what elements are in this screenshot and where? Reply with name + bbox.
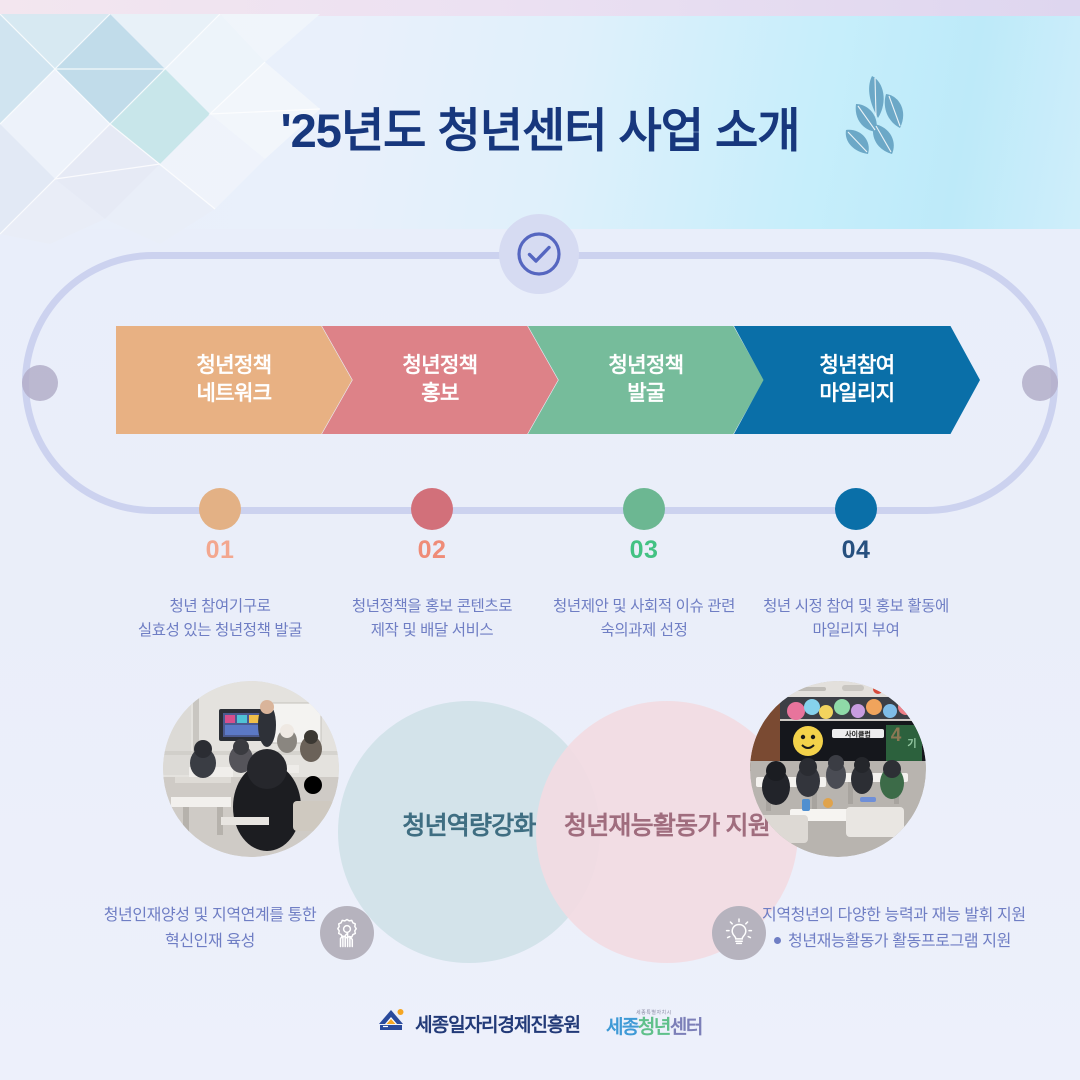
logo-sejong-youth-center: 세종특별자치시 세종청년센터 — [606, 1011, 702, 1037]
step-number-02: 02 — [327, 536, 537, 565]
lightbulb-icon — [712, 906, 766, 960]
step-item-04: 04 청년 시정 참여 및 홍보 활동에 마일리지 부여 — [751, 488, 961, 643]
step-dot-03 — [623, 488, 665, 530]
step-number-04: 04 — [751, 536, 961, 565]
logo-youth-part2: 청년 — [638, 1017, 670, 1038]
step-desc-02-line2: 제작 및 배달 서비스 — [327, 619, 537, 643]
track-dot-left — [22, 365, 58, 401]
step-desc-04-line1: 청년 시정 참여 및 홍보 활동에 — [751, 595, 961, 619]
step-desc-03-line1: 청년제안 및 사회적 이슈 관련 — [539, 595, 749, 619]
svg-text:사이클럽: 사이클럽 — [845, 729, 871, 738]
chevron-step-3-line2: 발굴 — [609, 380, 684, 408]
program-left-photo — [163, 681, 339, 857]
chevron-step-4-line1: 청년참여 — [820, 352, 895, 380]
step-dot-04 — [835, 488, 877, 530]
step-description-01: 청년 참여기구로 실효성 있는 청년정책 발굴 — [115, 595, 325, 643]
infographic-poster: '25년도 청년센터 사업 소개 청년정책 네트워크 청년정책 홍보 청년정책 … — [0, 0, 1080, 1080]
step-desc-02-line1: 청년정책을 홍보 콘텐츠로 — [327, 595, 537, 619]
step-item-02: 02 청년정책을 홍보 콘텐츠로 제작 및 배달 서비스 — [327, 488, 537, 643]
logo-sejong-job-economy: 세종일자리경제진흥원 — [378, 1008, 580, 1039]
program-right-caption-bullet: 청년재능활동가 활동프로그램 지원 — [788, 929, 1011, 955]
chevron-step-3[interactable]: 청년정책 발굴 — [528, 326, 764, 434]
footer-logos: 세종일자리경제진흥원 세종특별자치시 세종청년센터 — [0, 1008, 1080, 1039]
chevron-step-2[interactable]: 청년정책 홍보 — [322, 326, 558, 434]
step-desc-03-line2: 숙의과제 선정 — [539, 619, 749, 643]
chevron-step-4-line2: 마일리지 — [820, 380, 895, 408]
chevron-step-4[interactable]: 청년참여 마일리지 — [734, 326, 980, 434]
track-dot-right — [1022, 365, 1058, 401]
step-item-03: 03 청년제안 및 사회적 이슈 관련 숙의과제 선정 — [539, 488, 749, 643]
chevron-step-1-line2: 네트워크 — [197, 380, 272, 408]
step-dot-02 — [411, 488, 453, 530]
program-right-caption: 지역청년의 다양한 능력과 재능 발휘 지원 청년재능활동가 활동프로그램 지원 — [762, 903, 1062, 954]
program-left-caption: 청년인재양성 및 지역연계를 통한 혁신인재 육성 — [60, 903, 360, 954]
chevron-step-2-line2: 홍보 — [403, 380, 478, 408]
step-number-01: 01 — [115, 536, 325, 565]
program-left-caption-line1: 청년인재양성 및 지역연계를 통한 — [60, 903, 360, 929]
step-item-01: 01 청년 참여기구로 실효성 있는 청년정책 발굴 — [115, 488, 325, 643]
step-desc-01-line2: 실효성 있는 청년정책 발굴 — [115, 619, 325, 643]
process-chevron-band: 청년정책 네트워크 청년정책 홍보 청년정책 발굴 청년참여 마일리지 — [116, 326, 980, 434]
chevron-step-1-line1: 청년정책 — [197, 352, 272, 380]
step-desc-04-line2: 마일리지 부여 — [751, 619, 961, 643]
program-right-caption-line1: 지역청년의 다양한 능력과 재능 발휘 지원 — [762, 903, 1062, 929]
program-left-label: 청년역량강화 — [402, 806, 535, 842]
check-circle-icon — [499, 214, 579, 294]
page-title: '25년도 청년센터 사업 소개 — [0, 92, 1080, 161]
chevron-step-1[interactable]: 청년정책 네트워크 — [116, 326, 352, 434]
chevron-step-3-line1: 청년정책 — [609, 352, 684, 380]
logo-youth-part3: 센터 — [670, 1017, 702, 1038]
step-description-04: 청년 시정 참여 및 홍보 활동에 마일리지 부여 — [751, 595, 961, 643]
step-description-03: 청년제안 및 사회적 이슈 관련 숙의과제 선정 — [539, 595, 749, 643]
logo-youth-small-text: 세종특별자치시 — [636, 1011, 672, 1016]
step-dot-01 — [199, 488, 241, 530]
program-right-label: 청년재능활동가 지원 — [564, 806, 770, 842]
step-description-02: 청년정책을 홍보 콘텐츠로 제작 및 배달 서비스 — [327, 595, 537, 643]
program-right-caption-bullet-row: 청년재능활동가 활동프로그램 지원 — [762, 929, 1062, 955]
logo-sejong-text: 세종일자리경제진흥원 — [415, 1010, 580, 1037]
step-number-03: 03 — [539, 536, 749, 565]
step-desc-01-line1: 청년 참여기구로 — [115, 595, 325, 619]
program-right-photo: 사이클럽 4 기 — [750, 681, 926, 857]
logo-youth-main-text: 세종청년센터 — [606, 1018, 702, 1037]
logo-youth-part1: 세종 — [606, 1017, 638, 1038]
chevron-step-2-line1: 청년정책 — [403, 352, 478, 380]
program-left-caption-line2: 혁신인재 육성 — [60, 929, 360, 955]
sejong-house-icon — [378, 1008, 406, 1039]
